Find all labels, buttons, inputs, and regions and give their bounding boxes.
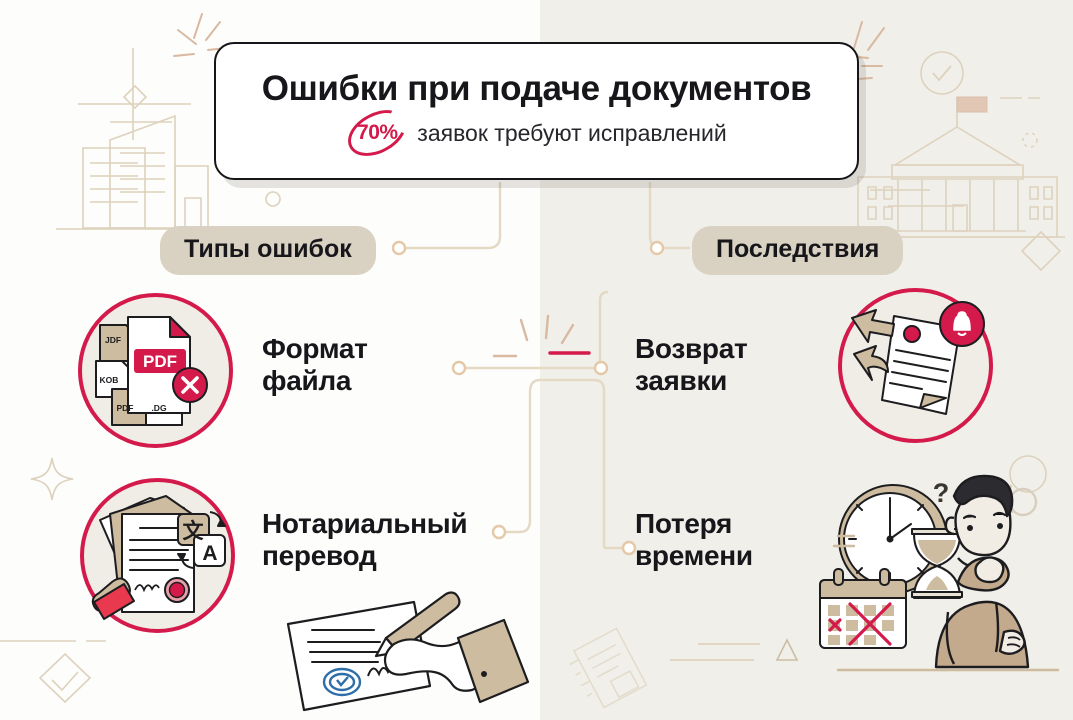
row-file-format: Формат файла [262, 333, 368, 398]
icon-circle-file-format [78, 293, 233, 448]
subtitle-text: заявок требуют исправлений [417, 120, 726, 147]
section-chip-error-types: Типы ошибок [160, 226, 376, 275]
subtitle-line: 70% заявок требуют исправлений [346, 113, 726, 153]
page-title: Ошибки при подаче документов [262, 69, 811, 109]
row-label-application-return: Возврат заявки [635, 333, 747, 398]
row-application-return: Возврат заявки [635, 333, 747, 398]
percent-badge: 70% [346, 113, 408, 153]
icon-circle-notarized-translation [80, 478, 235, 633]
section-chip-consequences: Последствия [692, 226, 903, 275]
title-card: Ошибки при подаче документов 70% заявок … [214, 42, 859, 180]
row-label-file-format: Формат файла [262, 333, 368, 398]
row-notarized-translation: Нотариальный перевод [262, 508, 467, 573]
infographic-canvas: Ошибки при подаче документов 70% заявок … [0, 0, 1073, 720]
row-time-loss: Потеря времени [635, 508, 753, 573]
row-label-time-loss: Потеря времени [635, 508, 753, 573]
icon-circle-application-return [838, 288, 993, 443]
row-label-notarized-translation: Нотариальный перевод [262, 508, 467, 573]
percent-value: 70% [357, 121, 398, 145]
